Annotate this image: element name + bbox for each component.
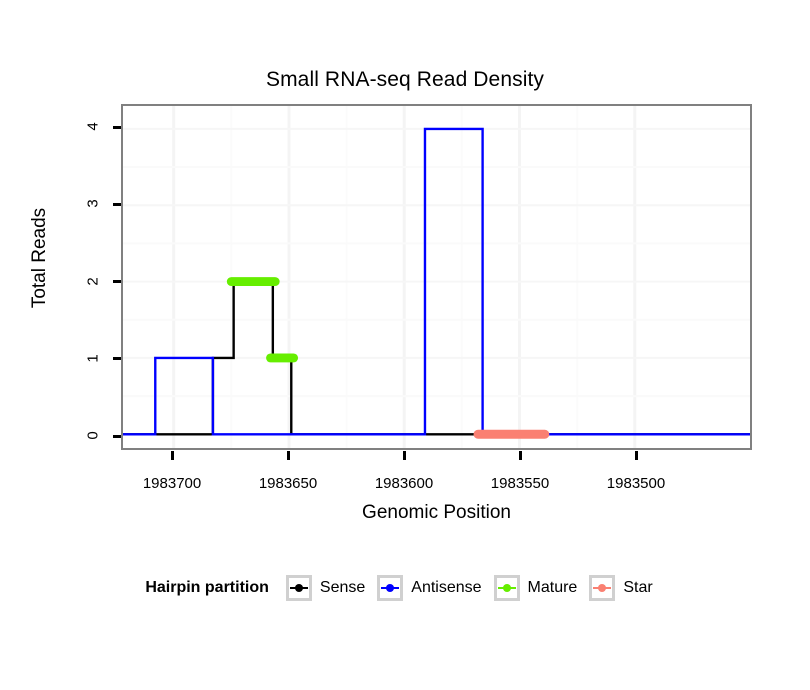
y-axis-title: Total Reads (29, 178, 51, 338)
legend-entry-antisense[interactable]: Antisense (377, 575, 481, 601)
x-tick-mark (287, 451, 290, 460)
legend-label: Sense (320, 579, 365, 597)
legend-title: Hairpin partition (145, 579, 269, 597)
chart-title: Small RNA-seq Read Density (0, 68, 810, 92)
x-axis-title: Genomic Position (121, 502, 752, 524)
legend-label: Mature (528, 579, 578, 597)
y-tick-mark (113, 435, 121, 438)
legend-key-dot (386, 584, 394, 592)
legend-key-icon (589, 575, 615, 601)
x-tick-label: 1983650 (243, 475, 333, 492)
legend-key-icon (494, 575, 520, 601)
legend-key-dot (503, 584, 511, 592)
legend-label: Star (623, 579, 652, 597)
x-tick-mark (171, 451, 174, 460)
x-tick-label: 1983600 (359, 475, 449, 492)
x-tick-mark (519, 451, 522, 460)
chart-legend: Hairpin partition SenseAntisenseMatureSt… (0, 575, 810, 601)
x-tick-mark (635, 451, 638, 460)
legend-key-icon (286, 575, 312, 601)
y-tick-mark (113, 203, 121, 206)
y-tick-mark (113, 126, 121, 129)
y-tick-mark (113, 280, 121, 283)
x-tick-label: 1983550 (475, 475, 565, 492)
y-tick-label: 4 (85, 112, 102, 142)
legend-entries: SenseAntisenseMatureStar (286, 575, 665, 601)
legend-key-dot (598, 584, 606, 592)
x-tick-label: 1983700 (127, 475, 217, 492)
legend-label: Antisense (411, 579, 481, 597)
legend-key-dot (295, 584, 303, 592)
legend-entry-sense[interactable]: Sense (286, 575, 365, 601)
plot-area (123, 106, 750, 448)
x-tick-label: 1983500 (591, 475, 681, 492)
gridlines (123, 106, 750, 448)
legend-entry-mature[interactable]: Mature (494, 575, 578, 601)
x-tick-mark (403, 451, 406, 460)
y-tick-mark (113, 357, 121, 360)
legend-entry-star[interactable]: Star (589, 575, 652, 601)
plot-panel (121, 104, 752, 450)
chart-figure: Small RNA-seq Read Density Total Reads 0… (0, 0, 810, 690)
y-tick-label: 3 (85, 189, 102, 219)
y-tick-label: 0 (85, 421, 102, 451)
legend-key-icon (377, 575, 403, 601)
y-tick-label: 2 (85, 266, 102, 296)
y-tick-label: 1 (85, 343, 102, 373)
